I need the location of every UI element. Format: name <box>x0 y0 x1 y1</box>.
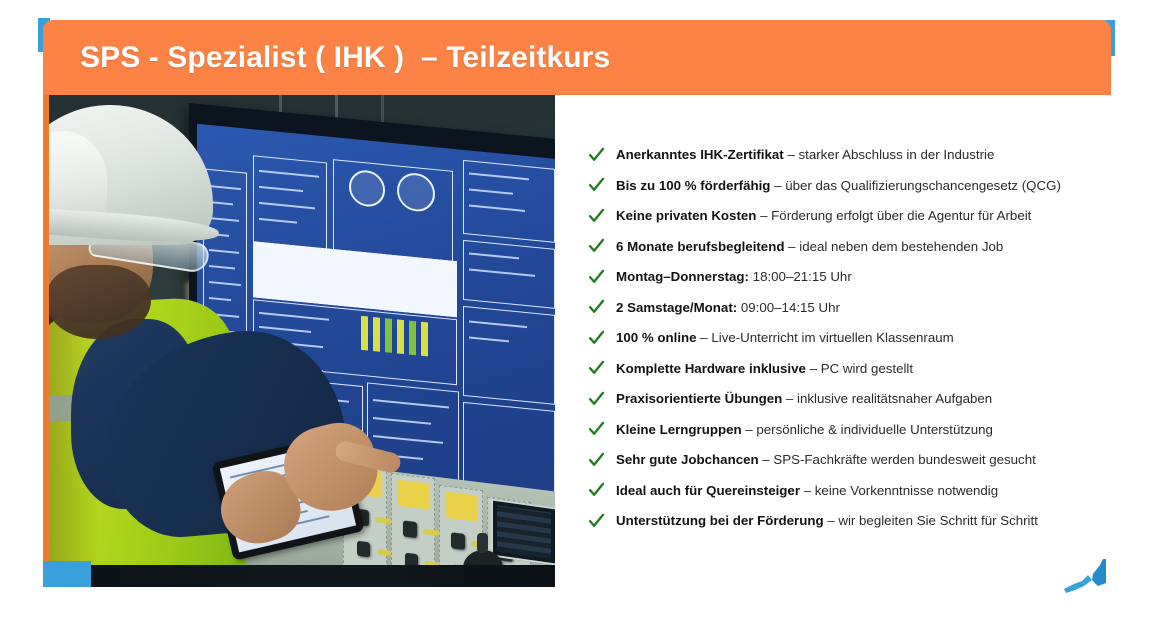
check-icon <box>588 145 616 165</box>
check-icon <box>588 420 616 440</box>
list-item-desc: – inklusive realitätsnaher Aufgaben <box>782 391 992 406</box>
list-item-title: Praxisorientierte Übungen <box>616 391 782 406</box>
list-item-title: 2 Samstage/Monat: <box>616 300 737 315</box>
check-icon <box>588 359 616 379</box>
check-icon <box>588 176 616 196</box>
course-photo <box>43 95 555 587</box>
photo-blue-corner-accent <box>43 561 91 587</box>
list-item: Bis zu 100 % förderfähig – über das Qual… <box>588 176 1128 207</box>
benefits-list: Anerkanntes IHK-Zertifikat – starker Abs… <box>588 145 1128 542</box>
list-item: 100 % online – Live-Unterricht im virtue… <box>588 328 1128 359</box>
list-item: 6 Monate berufsbegleitend – ideal neben … <box>588 237 1128 268</box>
list-item-desc: – über das Qualifizierungschancengesetz … <box>770 178 1060 193</box>
list-item-desc: – PC wird gestellt <box>806 361 913 376</box>
header-bar: SPS - Spezialist ( IHK ) – Teilzeitkurs <box>43 20 1111 95</box>
list-item-title: Keine privaten Kosten <box>616 208 756 223</box>
list-item: Montag–Donnerstag: 18:00–21:15 Uhr <box>588 267 1128 298</box>
check-icon <box>588 237 616 257</box>
list-item: Kleine Lerngruppen – persönliche & indiv… <box>588 420 1128 451</box>
check-icon <box>588 450 616 470</box>
check-icon <box>588 206 616 226</box>
list-item-desc: – ideal neben dem bestehenden Job <box>784 239 1003 254</box>
list-item-title: Sehr gute Jobchancen <box>616 452 759 467</box>
list-item: Keine privaten Kosten – Förderung erfolg… <box>588 206 1128 237</box>
check-icon <box>588 298 616 318</box>
list-item-title: Montag–Donnerstag: <box>616 269 749 284</box>
list-item: Unterstützung bei der Förderung – wir be… <box>588 511 1128 542</box>
list-item-title: Kleine Lerngruppen <box>616 422 742 437</box>
check-icon <box>588 267 616 287</box>
list-item: Sehr gute Jobchancen – SPS-Fachkräfte we… <box>588 450 1128 481</box>
list-item-title: 100 % online <box>616 330 697 345</box>
list-item-desc: – SPS-Fachkräfte werden bundesweit gesuc… <box>759 452 1036 467</box>
list-item-title: 6 Monate berufsbegleitend <box>616 239 784 254</box>
list-item: Praxisorientierte Übungen – inklusive re… <box>588 389 1128 420</box>
photo-bottom-band <box>91 565 555 587</box>
list-item: Anerkanntes IHK-Zertifikat – starker Abs… <box>588 145 1128 176</box>
list-item: Ideal auch für Quereinsteiger – keine Vo… <box>588 481 1128 512</box>
list-item-desc: – wir begleiten Sie Schritt für Schritt <box>824 513 1038 528</box>
list-item-desc: 18:00–21:15 Uhr <box>749 269 852 284</box>
joystick-lever <box>477 533 488 553</box>
list-item-desc: 09:00–14:15 Uhr <box>737 300 840 315</box>
list-item-title: Bis zu 100 % förderfähig <box>616 178 770 193</box>
list-item-desc: – Förderung erfolgt über die Agentur für… <box>756 208 1031 223</box>
list-item-desc: – persönliche & individuelle Unterstützu… <box>742 422 993 437</box>
check-icon <box>588 328 616 348</box>
list-item-desc: – Live-Unterricht im virtuellen Klassenr… <box>697 330 954 345</box>
list-item-title: Ideal auch für Quereinsteiger <box>616 483 800 498</box>
list-item: 2 Samstage/Monat: 09:00–14:15 Uhr <box>588 298 1128 329</box>
photo-orange-edge-accent <box>43 95 49 587</box>
check-icon <box>588 511 616 531</box>
list-item-title: Anerkanntes IHK-Zertifikat <box>616 147 784 162</box>
list-item-title: Unterstützung bei der Förderung <box>616 513 824 528</box>
list-item: Komplette Hardware inklusive – PC wird g… <box>588 359 1128 390</box>
growth-swoosh-icon <box>1062 555 1114 595</box>
keypad-terminal <box>491 498 555 565</box>
page-title: SPS - Spezialist ( IHK ) – Teilzeitkurs <box>43 41 610 75</box>
list-item-desc: – starker Abschluss in der Industrie <box>784 147 995 162</box>
list-item-title: Komplette Hardware inklusive <box>616 361 806 376</box>
check-icon <box>588 481 616 501</box>
list-item-desc: – keine Vorkenntnisse notwendig <box>800 483 998 498</box>
check-icon <box>588 389 616 409</box>
